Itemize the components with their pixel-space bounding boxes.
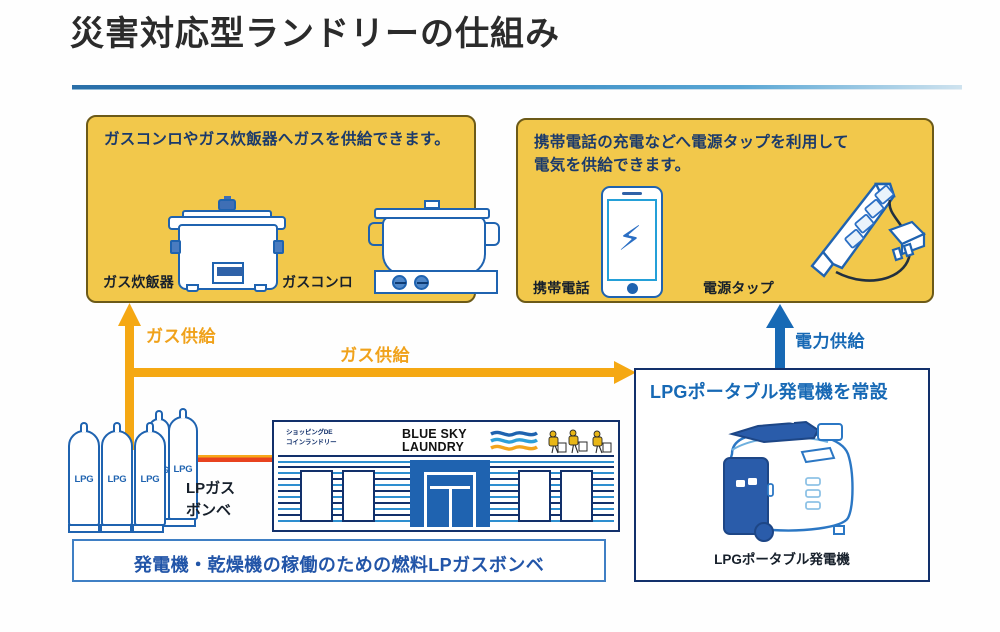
gas-up-arrow-label: ガス供給 — [146, 322, 216, 347]
lpg-cylinder-label: LPガス ボンベ — [186, 478, 235, 522]
laundry-building: ショッピングDE コインランドリー BLUE SKY LAUNDRY — [272, 420, 620, 532]
generator-box: LPGポータブル発電機を常設 — [634, 368, 930, 582]
shoppers-illustration-icon — [546, 427, 620, 455]
lpg-cylinder-text: LPG — [70, 474, 98, 485]
lpg-cylinder: LPG — [134, 430, 166, 526]
generator-caption: LPGポータブル発電機 — [636, 548, 928, 568]
sign-center-text: BLUE SKY LAUNDRY — [402, 428, 467, 454]
diagram-canvas: 災害対応型ランドリーの仕組み ガスコンロやガス炊飯器へガスを供給できます。 ガス… — [0, 0, 1000, 632]
lpg-cylinder: LPG — [68, 430, 100, 526]
sign-left-line1: ショッピングDE — [286, 429, 332, 436]
fuel-caption-text: 発電機・乾燥機の稼働のための燃料LPガスボンベ — [74, 551, 604, 577]
laundry-facade — [278, 458, 614, 527]
power-up-arrow — [766, 304, 794, 371]
gas-right-arrow-label: ガス供給 — [340, 341, 410, 366]
lpg-cylinder: LPG — [101, 430, 133, 526]
lpg-cylinder-label-line1: LPガス — [186, 480, 235, 497]
sign-center-line1: BLUE SKY — [402, 427, 467, 441]
lpg-cylinder-text: LPG — [170, 464, 196, 475]
fuel-caption-box: 発電機・乾燥機の稼働のための燃料LPガスボンベ — [72, 539, 606, 582]
sign-left-line2: コインランドリー — [286, 439, 336, 446]
lpg-cylinder-text: LPG — [136, 474, 164, 485]
lpg-cylinder-text: LPG — [103, 474, 131, 485]
portable-generator-icon — [702, 414, 870, 544]
wave-logo-icon — [490, 429, 538, 453]
laundry-entrance — [410, 460, 490, 527]
generator-box-heading: LPGポータブル発電機を常設 — [650, 378, 888, 404]
sign-left-text: ショッピングDE コインランドリー — [286, 428, 336, 448]
power-up-arrow-label: 電力供給 — [795, 327, 865, 352]
sign-center-line2: LAUNDRY — [402, 440, 464, 454]
lpg-cylinder-label-line2: ボンベ — [186, 502, 231, 519]
laundry-sign: ショッピングDE コインランドリー BLUE SKY LAUNDRY — [278, 425, 614, 457]
